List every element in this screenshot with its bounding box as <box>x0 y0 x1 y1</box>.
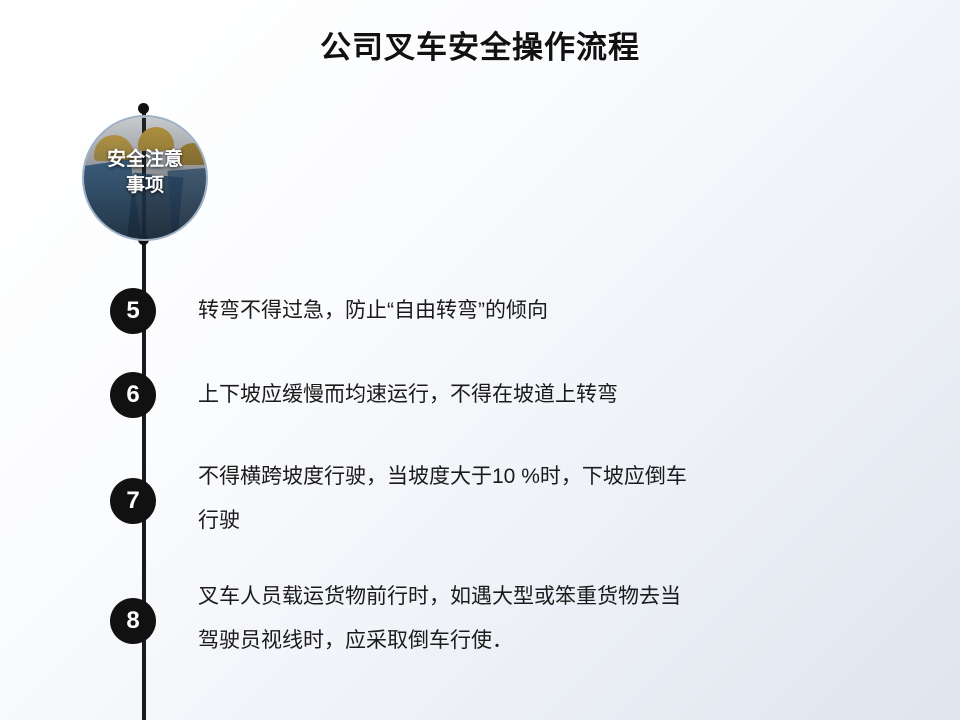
item-text-line1: 叉车人员载运货物前行时，如遇大型或笨重货物去当 <box>198 585 681 608</box>
item-text-line1: 不得横跨坡度行驶，当坡度大于10 %时，下坡应倒车 <box>198 465 687 488</box>
item-number-badge: 8 <box>110 598 156 644</box>
badge-label-line1: 安全注意 <box>107 149 183 170</box>
safety-notice-badge[interactable]: 安全注意 事项 <box>82 115 208 241</box>
item-text-line1: 上下坡应缓慢而均速运行，不得在坡道上转弯 <box>198 383 618 406</box>
item-text-line2: 驾驶员视线时，应采取倒车行使． <box>198 619 898 663</box>
item-number-badge: 7 <box>110 478 156 524</box>
item-text: 不得横跨坡度行驶，当坡度大于10 %时，下坡应倒车 行驶 <box>198 455 898 543</box>
item-number-badge: 6 <box>110 372 156 418</box>
item-text: 叉车人员载运货物前行时，如遇大型或笨重货物去当 驾驶员视线时，应采取倒车行使． <box>198 575 898 663</box>
page-title: 公司叉车安全操作流程 <box>0 22 960 67</box>
item-text-line2: 行驶 <box>198 499 898 543</box>
item-text: 转弯不得过急，防止“自由转弯”的倾向 <box>198 289 898 333</box>
item-number-badge: 5 <box>110 288 156 334</box>
slide-canvas: 公司叉车安全操作流程 安全注意 事项 5 转弯不得过急，防止“自由转弯”的倾向 … <box>0 0 960 720</box>
item-text: 上下坡应缓慢而均速运行，不得在坡道上转弯 <box>198 373 898 417</box>
badge-label: 安全注意 事项 <box>84 147 206 199</box>
timeline-dot-top <box>138 103 149 114</box>
item-text-line1: 转弯不得过急，防止“自由转弯”的倾向 <box>198 299 548 322</box>
badge-label-line2: 事项 <box>126 175 164 196</box>
